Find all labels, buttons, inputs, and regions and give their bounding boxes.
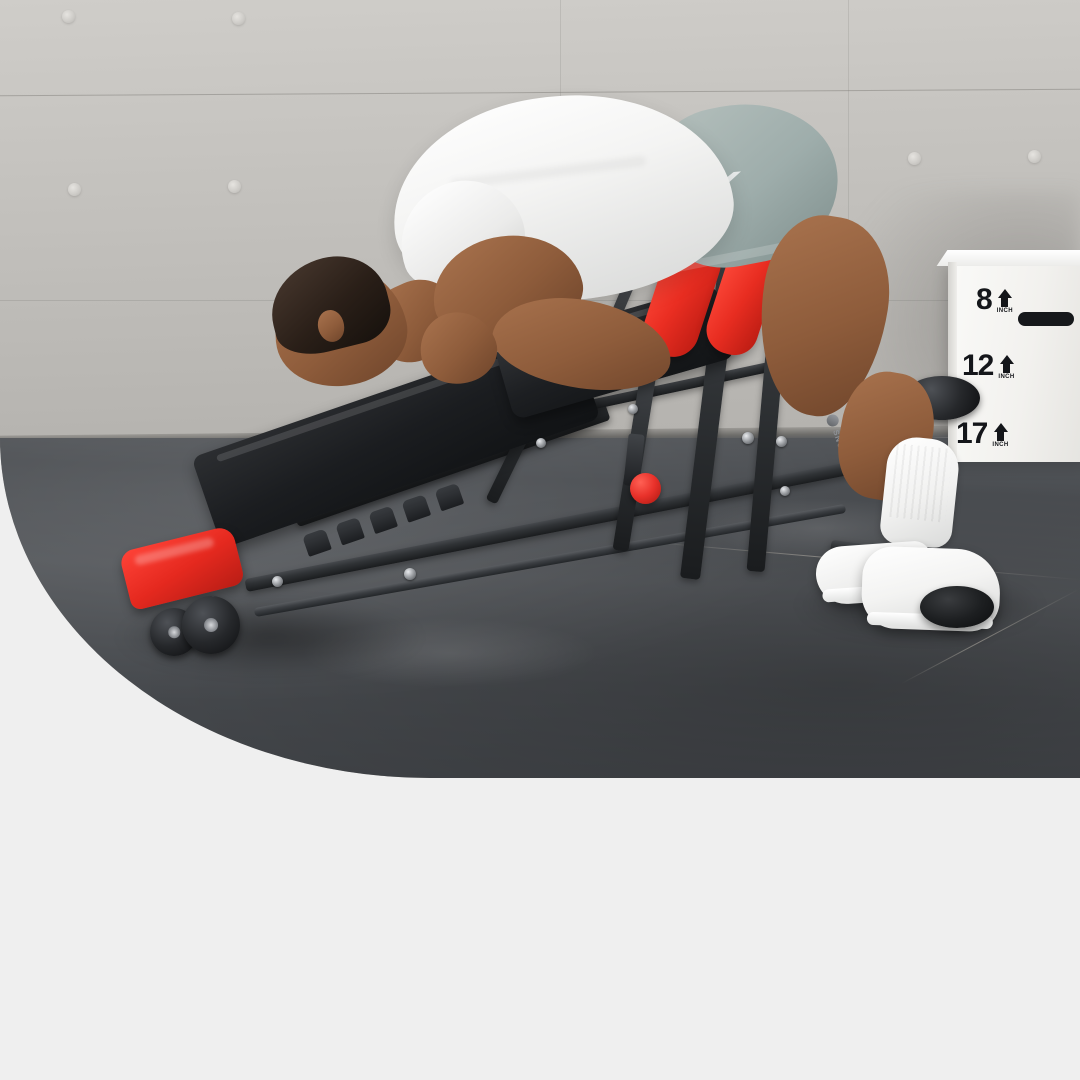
athlete	[0, 0, 1080, 778]
sock-ribbing	[889, 443, 952, 522]
product-feature-card: 8 INCH 12 INCH 17	[0, 0, 1080, 1080]
hero-photo: 8 INCH 12 INCH 17	[0, 0, 1080, 778]
foam-roller	[920, 586, 994, 628]
caption-panel: TARGET LOWER BACK & GLUTES WITH HYPEREXT…	[0, 778, 1080, 1080]
athlete-sock	[879, 435, 962, 550]
